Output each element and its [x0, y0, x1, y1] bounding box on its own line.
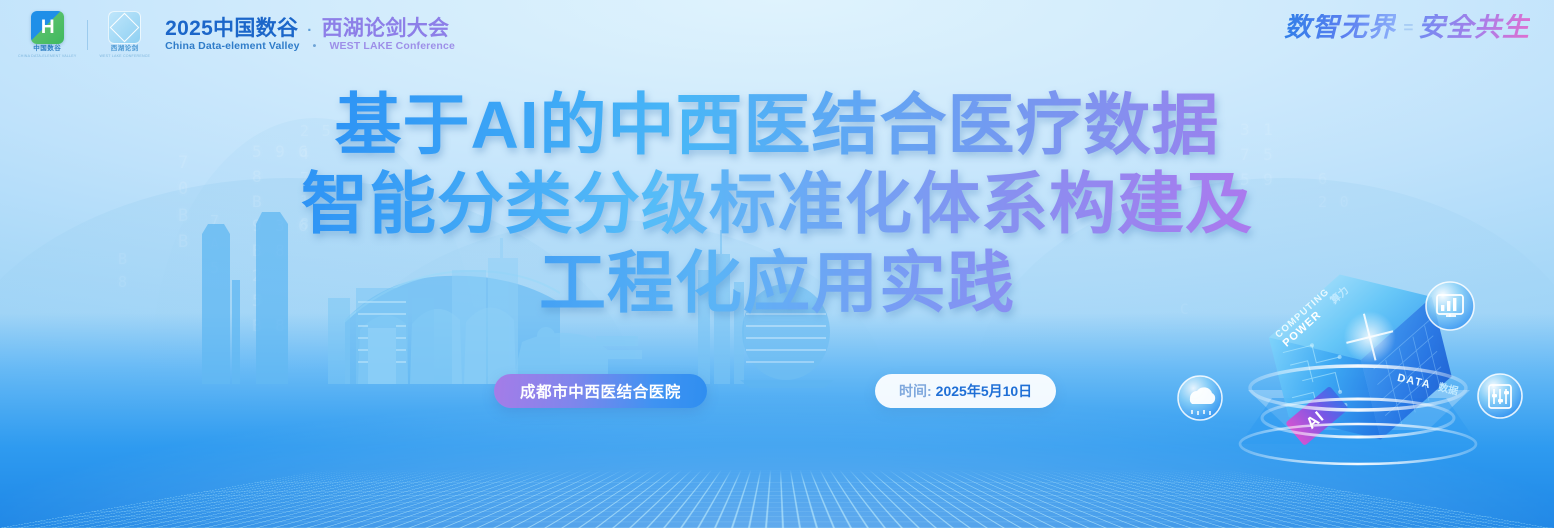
brand-title-cn: 2025中国数谷 · 西湖论剑大会	[165, 18, 455, 39]
rain-column-2: 5 9 6 8 B 9 3 6 B 8 2 5 B 8	[252, 140, 310, 338]
date-label: 时间:	[899, 381, 932, 401]
wl-caption-cn: 西湖论剑	[111, 46, 139, 53]
date-badge: 时间: 2025年5月10日	[875, 374, 1056, 408]
slogan-part-2: 安全共生	[1418, 14, 1530, 41]
rain-column-3: 2 5 D 4 7 1 8	[300, 120, 354, 236]
wl-diamond-icon	[110, 13, 140, 43]
cdv-letter-glyph: H	[31, 11, 64, 44]
cdv-caption-cn: 中国数谷	[33, 46, 61, 53]
rain-column-6: 6 2 0	[1318, 168, 1351, 215]
china-data-valley-logo[interactable]: H 中国数谷 CHINA DATA-ELEMENT VALLEY	[18, 11, 76, 58]
brand-title-en-main: China Data-element Valley	[165, 41, 299, 52]
server-sliders-icon	[1478, 374, 1522, 418]
logo-divider	[87, 20, 88, 50]
brand-title-en-separator: •	[313, 41, 317, 52]
rain-column-5: 3 1 7 5 5 9	[1240, 118, 1275, 192]
rain-column-0: 7 0 B B	[178, 150, 190, 255]
slogan-part-1: 数智无界	[1284, 14, 1396, 41]
title-line-2: 智能分类分级标准化体系构建及	[0, 165, 1554, 244]
organization-badge: 成都市中西医结合医院	[494, 374, 707, 408]
rain-column-4: B 8	[118, 248, 129, 295]
brand-wordmark: 2025中国数谷 · 西湖论剑大会 China Data-element Val…	[165, 18, 455, 52]
brand-header: H 中国数谷 CHINA DATA-ELEMENT VALLEY 西湖论剑 WE…	[18, 11, 455, 58]
brand-title-cn-separator: ·	[307, 23, 312, 38]
west-lake-conference-logo[interactable]: 西湖论剑 WEST LAKE CONFERENCE	[99, 11, 150, 58]
slogan-separator: =	[1403, 19, 1411, 36]
cdv-mark-icon: H	[31, 11, 64, 44]
brand-title-cn-secondary: 西湖论剑大会	[322, 18, 450, 39]
date-value: 2025年5月10日	[936, 381, 1033, 401]
conference-banner: 7 0 B B7 A 55 9 6 8 B 9 3 6 B 8 2 5 B 82…	[0, 0, 1554, 528]
data-cube-illustration: COMPUTING POWER 算力 AI DATA 数据	[1178, 248, 1538, 498]
brand-title-en-secondary: WEST LAKE Conference	[329, 41, 455, 52]
brand-title-en: China Data-element Valley • WEST LAKE Co…	[165, 41, 455, 52]
wl-mark-icon	[108, 11, 141, 44]
event-slogan: 数智无界 = 安全共生	[1284, 14, 1530, 41]
cdv-caption-en: CHINA DATA-ELEMENT VALLEY	[18, 55, 76, 59]
monitor-chart-icon	[1426, 282, 1474, 330]
rain-column-1: 7 A 5	[210, 210, 221, 280]
wl-caption-en: WEST LAKE CONFERENCE	[99, 55, 150, 59]
title-line-1: 基于AI的中西医结合医疗数据	[0, 86, 1554, 165]
cloud-icon	[1178, 376, 1222, 420]
brand-title-cn-main: 2025中国数谷	[165, 18, 298, 39]
